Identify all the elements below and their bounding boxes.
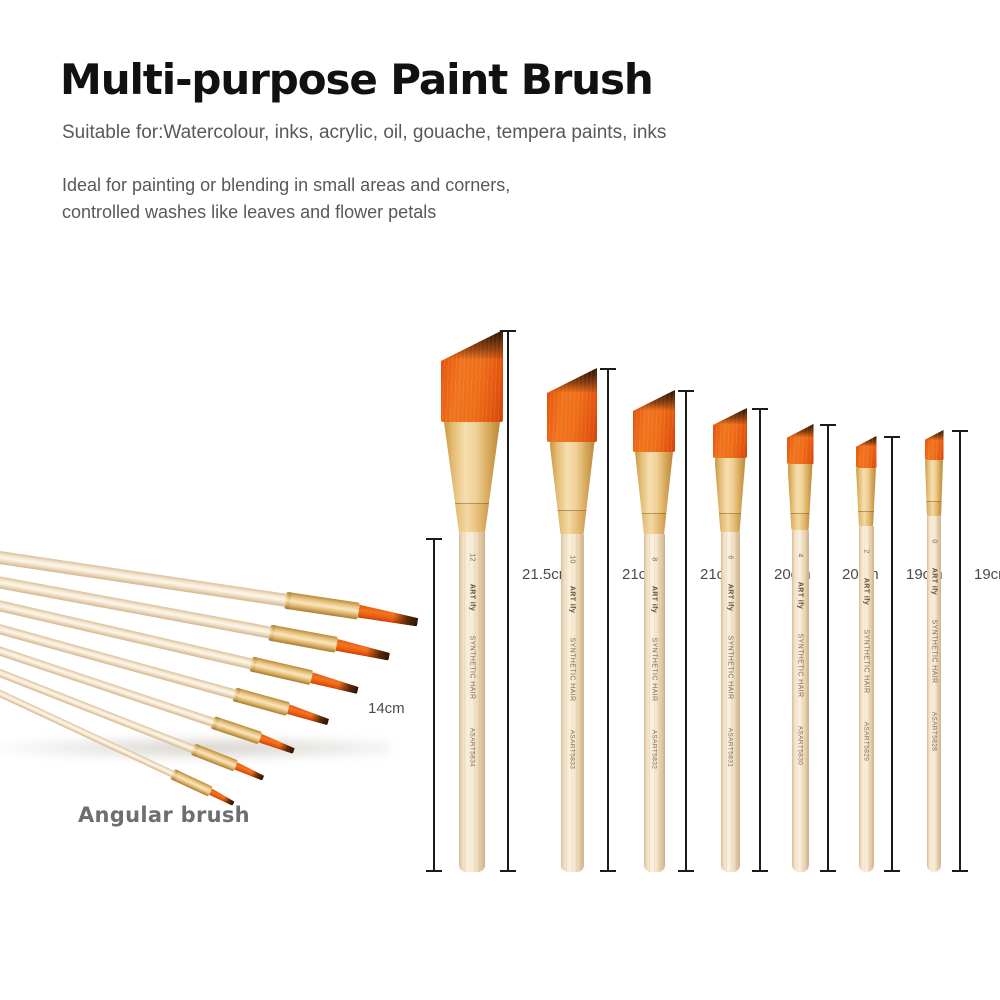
measure-line [507,330,509,872]
cluster-brush-ferrule [191,743,238,771]
handle-brand-mark: ART ify [931,568,938,595]
measure-cap-bottom [752,870,768,872]
measure-line [891,436,893,872]
measure-cap-top [600,368,616,370]
brush-ferrule [715,458,746,532]
measurement-callout-handle-14cm: 14cm [426,538,442,872]
ferrule-ring [550,510,595,534]
measure-cap-bottom [820,870,836,872]
cluster-brush-bristles-icon [287,704,330,725]
brush-handle: 12ART ifySYNTHETIC HAIRASART5834 [459,532,485,872]
brush-handle: 2ART ifySYNTHETIC HAIRASART5829 [859,526,874,872]
ferrule-ring [444,503,500,532]
handle-part-code: ASART5833 [569,730,576,770]
handle-brand-mark: ART ify [469,584,476,611]
measurement-callout-2: 19cm [884,436,900,872]
measurement-callout-8: 21cm [678,390,694,872]
measurement-callout-10: 21cm [600,368,616,872]
brush-handle: 0ART ifySYNTHETIC HAIRASART5828 [927,516,941,872]
brush-ferrule [444,422,500,532]
measure-cap-bottom [600,870,616,872]
handle-material-text: SYNTHETIC HAIR [797,634,804,698]
handle-size-number: 4 [797,553,804,557]
handle-size-number: 10 [569,555,576,564]
brush-lineup: 12ART ifySYNTHETIC HAIRASART583421.5cm10… [0,0,1000,1000]
ferrule-ring [788,513,813,530]
brush-bristles-icon [713,408,747,458]
cluster-brush-handle [0,545,286,607]
measure-cap-top [426,538,442,540]
cluster-brush-bristles-icon [310,672,359,694]
handle-brand-mark: ART ify [727,584,734,611]
ferrule-ring [635,513,673,534]
measure-cap-top [752,408,768,410]
brush-ferrule [788,464,813,530]
brush-bristles-icon [633,390,675,452]
cluster-caption: Angular brush [78,803,250,827]
cluster-brush-bristles-icon [259,734,296,754]
measurement-callout-6: 20cm [752,408,768,872]
handle-size-number: 2 [863,549,870,553]
handle-brand-mark: ART ify [797,582,804,609]
measure-line [959,430,961,872]
brush-bristles-icon [547,368,597,442]
handle-part-code: ASART5831 [727,728,734,768]
handle-wood-grain [561,534,584,872]
cluster-brush-ferrule [284,592,360,620]
angular-brush-cluster [0,505,420,805]
brush-handle: 6ART ifySYNTHETIC HAIRASART5831 [721,532,740,872]
handle-part-code: ASART5828 [931,712,938,752]
measurement-callout-4: 20cm [820,424,836,872]
brush-ferrule [550,442,595,534]
brush-bristles-icon [856,436,877,468]
brush-handle: 10ART ifySYNTHETIC HAIRASART5833 [561,534,584,872]
handle-material-text: SYNTHETIC HAIR [863,630,870,694]
cluster-brush-ferrule [232,688,290,716]
handle-brand-mark: ART ify [651,586,658,613]
measure-line [759,408,761,872]
handle-part-code: ASART5832 [651,730,658,770]
measurement-callout-12: 21.5cm [500,330,516,872]
handle-material-text: SYNTHETIC HAIR [569,638,576,702]
measure-cap-bottom [426,870,442,872]
measurement-callout-0: 19cm [952,430,968,872]
brush-bristles-icon [441,330,503,422]
ferrule-ring [925,501,943,516]
cluster-brush-ferrule [268,625,338,653]
handle-part-code: ASART5834 [469,728,476,768]
brush-ferrule [635,452,673,534]
handle-size-number: 8 [651,557,658,561]
measure-line [827,424,829,872]
measure-cap-top [820,424,836,426]
handle-brand-mark: ART ify [569,586,576,613]
brush-handle: 4ART ifySYNTHETIC HAIRASART5830 [792,530,809,872]
measure-cap-bottom [500,870,516,872]
measure-cap-bottom [884,870,900,872]
handle-part-code: ASART5829 [863,722,870,762]
cluster-brush-ferrule [211,716,263,744]
measure-cap-top [952,430,968,432]
measure-cap-top [500,330,516,332]
measure-cap-top [884,436,900,438]
cluster-brush-bristles-icon [234,762,265,780]
handle-size-number: 0 [931,539,938,543]
brush-ferrule [925,460,943,516]
measure-value-label: 19cm [974,566,1000,583]
brush-bristles-icon [787,424,814,464]
handle-material-text: SYNTHETIC HAIR [469,636,476,700]
handle-material-text: SYNTHETIC HAIR [727,636,734,700]
measure-cap-bottom [678,870,694,872]
handle-brand-mark: ART ify [863,578,870,605]
handle-wood-grain [644,534,665,872]
ferrule-ring [856,511,876,526]
measure-cap-bottom [952,870,968,872]
measure-line [685,390,687,872]
brush-handle: 8ART ifySYNTHETIC HAIRASART5832 [644,534,665,872]
ferrule-ring [715,513,746,532]
handle-material-text: SYNTHETIC HAIR [931,620,938,684]
measure-line [607,368,609,872]
handle-size-number: 6 [727,555,734,559]
measure-cap-top [678,390,694,392]
handle-material-text: SYNTHETIC HAIR [651,638,658,702]
cluster-brush-bristles-icon [335,639,390,661]
handle-size-number: 12 [469,553,476,562]
cluster-brush-bristles-icon [358,605,419,627]
handle-part-code: ASART5830 [797,726,804,766]
cluster-brush-ferrule [170,769,213,797]
brush-bristles-icon [925,430,944,460]
brush-ferrule [856,468,876,526]
cluster-brush-ferrule [249,657,313,686]
measure-line [433,538,435,872]
